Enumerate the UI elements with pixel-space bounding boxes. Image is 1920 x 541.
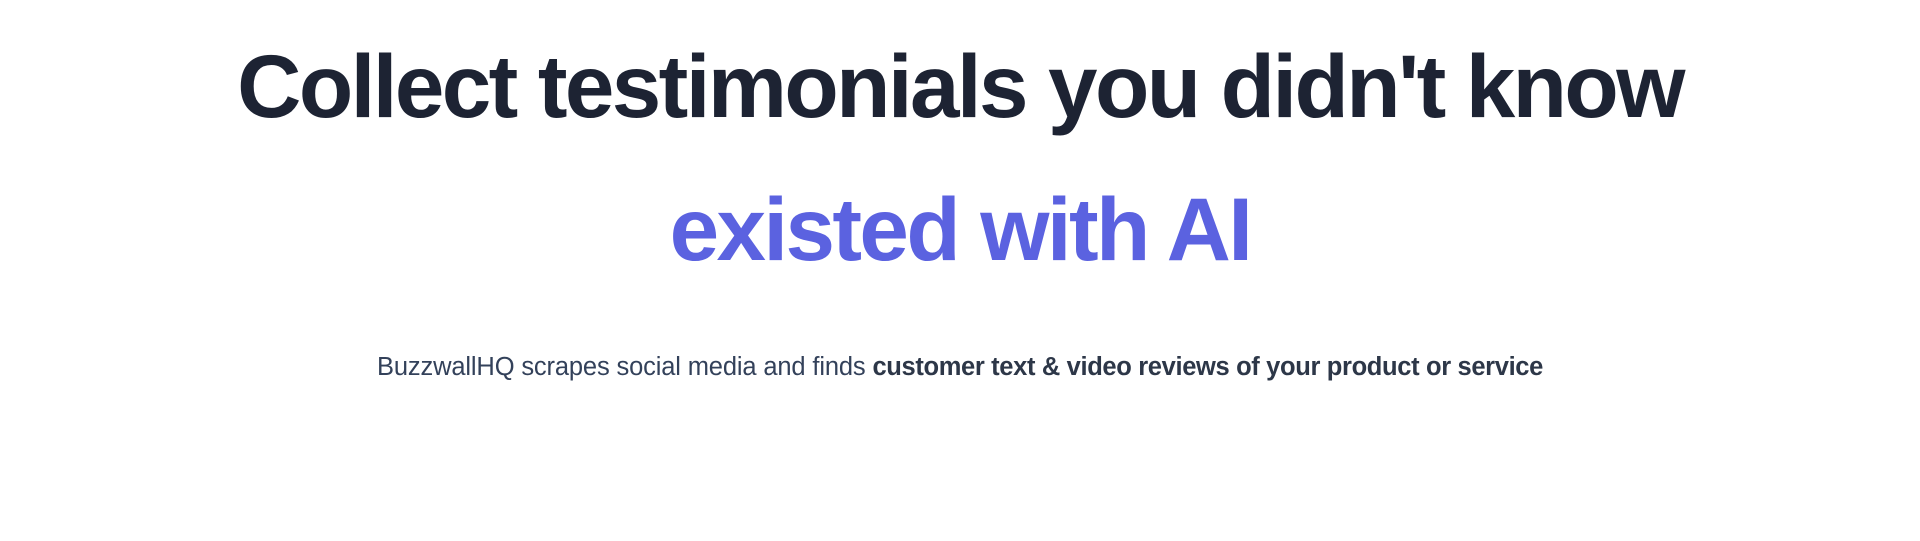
subheadline-emphasis-text: customer text & video reviews of your pr… [872,353,1543,381]
page-title: Collect testimonials you didn't know exi… [0,0,1920,301]
headline-line-primary: Collect testimonials you didn't know [0,15,1920,158]
subheadline-lead-text: BuzzwallHQ scrapes social media and find… [377,353,872,381]
hero-section: Collect testimonials you didn't know exi… [0,0,1920,541]
hero-subheadline: BuzzwallHQ scrapes social media and find… [340,347,1580,388]
headline-line-accent: existed with AI [0,158,1920,301]
